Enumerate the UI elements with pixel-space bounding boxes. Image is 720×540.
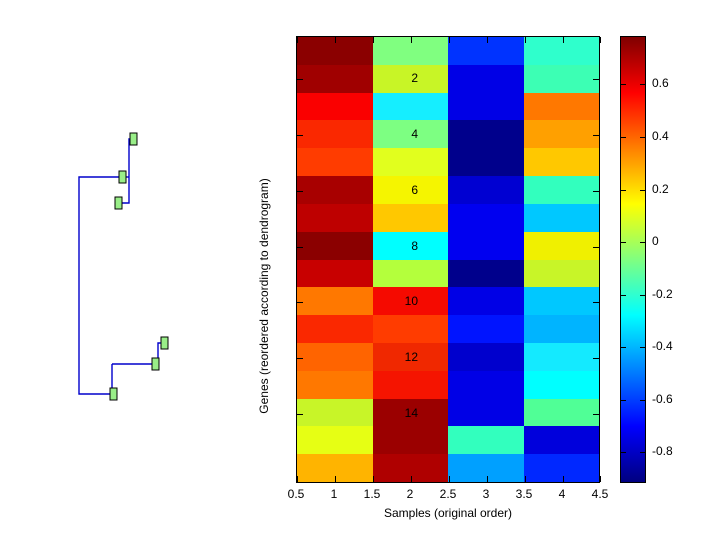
y-tick-mark (297, 247, 303, 248)
heatmap-cell (373, 148, 449, 176)
heatmap-grid (297, 37, 599, 482)
heatmap-cell (448, 37, 524, 65)
x-tick-mark (373, 476, 374, 482)
x-tick-label: 4 (559, 487, 566, 501)
heatmap-row (297, 65, 599, 93)
y-tick-mark (297, 79, 303, 80)
colorbar-tick-mark (640, 347, 645, 348)
colorbar-tick-mark (640, 452, 645, 453)
y-tick-label: 14 (405, 406, 418, 420)
y-tick-mark (593, 135, 599, 136)
heatmap-row (297, 176, 599, 204)
y-tick-label: 10 (405, 294, 418, 308)
x-tick-label: 4.5 (592, 487, 609, 501)
x-tick-label: 2 (407, 487, 414, 501)
y-tick-mark (593, 302, 599, 303)
x-tick-label: 0.5 (288, 487, 305, 501)
heatmap-cell (524, 260, 600, 288)
x-tick-mark (600, 476, 601, 482)
heatmap-cell (297, 371, 373, 399)
heatmap-cell (297, 426, 373, 454)
colorbar-tick-label: 0.2 (652, 182, 669, 196)
x-tick-mark (525, 476, 526, 482)
dendrogram-node-markers (110, 133, 168, 400)
y-tick-mark (297, 191, 303, 192)
colorbar-tick-mark (640, 400, 645, 401)
y-axis-title-anchor: Genes (reordered according to dendrogram… (272, 36, 273, 483)
x-tick-mark (335, 476, 336, 482)
heatmap-cell (524, 120, 600, 148)
x-tick-label: 2.5 (440, 487, 457, 501)
colorbar-tick-mark (640, 295, 645, 296)
node-marker-upper-mid (119, 171, 126, 183)
x-tick-mark (600, 37, 601, 43)
heatmap-cell (297, 148, 373, 176)
x-tick-mark (487, 37, 488, 43)
heatmap-cell (524, 232, 600, 260)
heatmap-cell (297, 315, 373, 343)
heatmap-axes (296, 36, 600, 483)
heatmap-cell (448, 120, 524, 148)
colorbar-tick-mark (621, 242, 626, 243)
heatmap-row (297, 315, 599, 343)
heatmap-cell (524, 287, 600, 315)
heatmap-cell (524, 37, 600, 65)
x-tick-mark (563, 37, 564, 43)
heatmap-cell (297, 93, 373, 121)
heatmap-cell (373, 260, 449, 288)
x-tick-mark (411, 476, 412, 482)
y-axis-title: Genes (reordered according to dendrogram… (257, 178, 271, 413)
heatmap-cell (448, 93, 524, 121)
colorbar-tick-mark (640, 84, 645, 85)
colorbar-tick-mark (621, 347, 626, 348)
heatmap-row (297, 454, 599, 482)
heatmap-row (297, 93, 599, 121)
y-tick-mark (297, 414, 303, 415)
x-tick-label: 1 (331, 487, 338, 501)
heatmap-cell (448, 204, 524, 232)
colorbar-tick-mark (621, 137, 626, 138)
figure-canvas: 24681012140.511.522.533.544.5 Genes (reo… (0, 0, 720, 540)
colorbar-gradient (621, 37, 645, 482)
y-tick-mark (593, 79, 599, 80)
heatmap-cell (448, 287, 524, 315)
node-marker-leaf-bottom-a (161, 337, 168, 349)
x-tick-mark (449, 476, 450, 482)
link-root-spine (79, 177, 114, 394)
x-tick-mark (411, 37, 412, 43)
heatmap-cell (524, 315, 600, 343)
y-tick-label: 4 (411, 127, 418, 141)
heatmap-cell (297, 399, 373, 427)
node-marker-leaf-top-a (130, 133, 137, 145)
x-tick-mark (449, 37, 450, 43)
heatmap-cell (524, 454, 600, 482)
node-marker-leaf-top-b (115, 197, 122, 209)
heatmap-row (297, 343, 599, 371)
colorbar-tick-label: -0.6 (652, 392, 673, 406)
y-tick-label: 8 (411, 239, 418, 253)
colorbar-tick-mark (621, 84, 626, 85)
heatmap-cell (373, 120, 449, 148)
y-tick-mark (297, 302, 303, 303)
heatmap-row (297, 120, 599, 148)
colorbar-tick-mark (621, 400, 626, 401)
heatmap-cell (524, 65, 600, 93)
y-tick-mark (297, 358, 303, 359)
heatmap-row (297, 37, 599, 65)
colorbar-tick-label: -0.2 (652, 287, 673, 301)
heatmap-cell (373, 426, 449, 454)
heatmap-cell (524, 399, 600, 427)
heatmap-cell (297, 204, 373, 232)
heatmap-cell (448, 371, 524, 399)
heatmap-cell (524, 148, 600, 176)
y-tick-label: 2 (411, 71, 418, 85)
heatmap-cell (373, 176, 449, 204)
x-tick-mark (563, 476, 564, 482)
colorbar-tick-mark (621, 190, 626, 191)
y-tick-mark (297, 135, 303, 136)
dendrogram (0, 0, 300, 540)
heatmap-row (297, 204, 599, 232)
x-tick-mark (335, 37, 336, 43)
heatmap-cell (524, 176, 600, 204)
heatmap-cell (373, 93, 449, 121)
heatmap-cell (448, 399, 524, 427)
y-tick-mark (593, 247, 599, 248)
colorbar-tick-label: 0.6 (652, 76, 669, 90)
colorbar-tick-label: -0.8 (652, 444, 673, 458)
heatmap-cell (373, 232, 449, 260)
heatmap-cell (448, 260, 524, 288)
heatmap-cell (524, 204, 600, 232)
colorbar-tick-mark (640, 137, 645, 138)
x-axis-title: Samples (original order) (384, 506, 512, 520)
x-tick-mark (373, 37, 374, 43)
colorbar-tick-mark (621, 295, 626, 296)
heatmap-cell (373, 65, 449, 93)
heatmap-cell (373, 371, 449, 399)
colorbar-tick-label: 0.4 (652, 129, 669, 143)
heatmap-cell (297, 232, 373, 260)
y-tick-mark (593, 191, 599, 192)
x-tick-mark (525, 37, 526, 43)
heatmap-cell (297, 65, 373, 93)
heatmap-row (297, 371, 599, 399)
heatmap-row (297, 148, 599, 176)
heatmap-cell (297, 176, 373, 204)
colorbar-tick-mark (621, 452, 626, 453)
y-tick-label: 6 (411, 183, 418, 197)
y-tick-label: 12 (405, 350, 418, 364)
heatmap-cell (448, 176, 524, 204)
x-tick-label: 3.5 (516, 487, 533, 501)
y-tick-mark (593, 358, 599, 359)
heatmap-cell (524, 371, 600, 399)
colorbar-tick-mark (640, 190, 645, 191)
node-marker-root (110, 388, 117, 400)
heatmap-row (297, 232, 599, 260)
x-tick-mark (297, 476, 298, 482)
heatmap-cell (448, 315, 524, 343)
heatmap-cell (448, 148, 524, 176)
heatmap-cell (297, 120, 373, 148)
x-tick-label: 1.5 (364, 487, 381, 501)
colorbar-tick-label: 0 (652, 234, 659, 248)
colorbar-tick-mark (640, 242, 645, 243)
heatmap-cell (448, 454, 524, 482)
y-tick-mark (593, 414, 599, 415)
heatmap-row (297, 260, 599, 288)
heatmap-cell (448, 65, 524, 93)
x-tick-mark (487, 476, 488, 482)
colorbar-tick-label: -0.4 (652, 339, 673, 353)
heatmap-cell (297, 287, 373, 315)
node-marker-lower-mid (152, 358, 159, 370)
heatmap-cell (524, 343, 600, 371)
heatmap-row (297, 426, 599, 454)
heatmap-cell (373, 315, 449, 343)
heatmap-cell (448, 232, 524, 260)
heatmap-cell (373, 204, 449, 232)
heatmap-cell (297, 260, 373, 288)
x-tick-label: 3 (483, 487, 490, 501)
x-tick-mark (297, 37, 298, 43)
colorbar (620, 36, 646, 483)
heatmap-cell (524, 93, 600, 121)
heatmap-cell (448, 426, 524, 454)
heatmap-cell (524, 426, 600, 454)
heatmap-row (297, 399, 599, 427)
heatmap-cell (448, 343, 524, 371)
heatmap-cell (297, 343, 373, 371)
heatmap-row (297, 287, 599, 315)
